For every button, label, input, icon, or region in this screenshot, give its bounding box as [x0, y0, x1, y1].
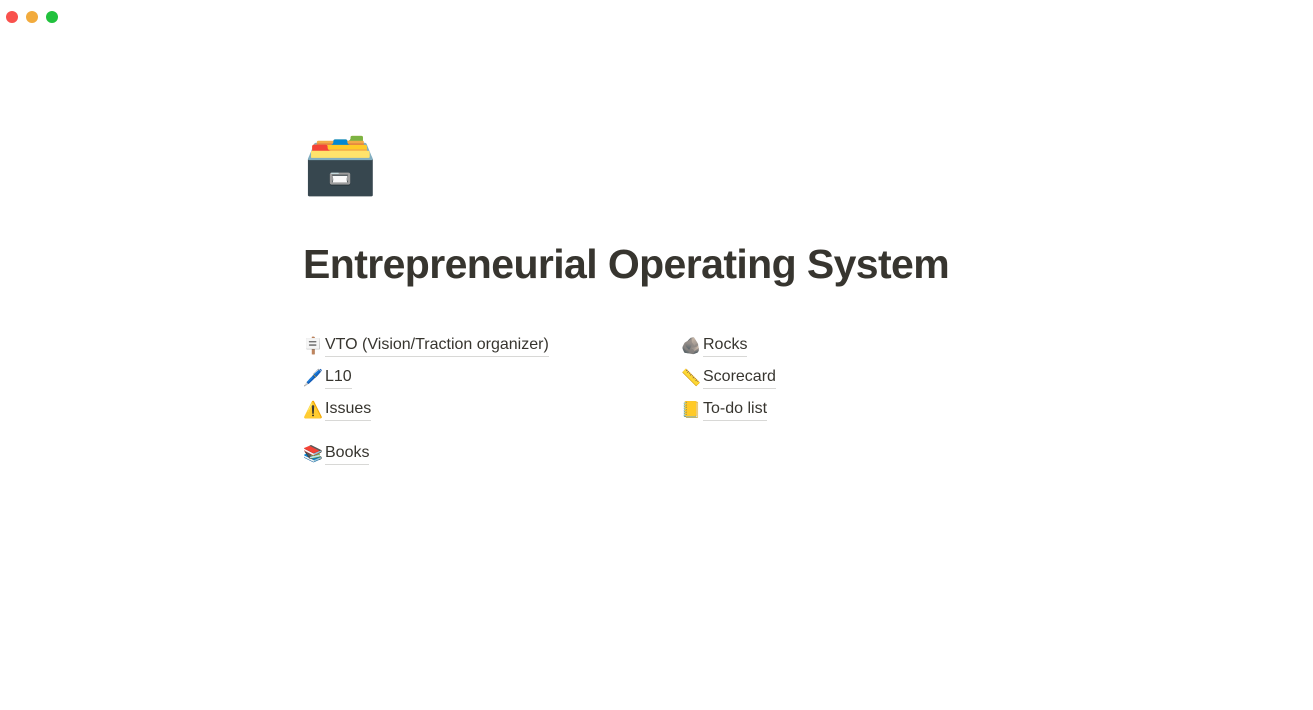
rock-icon: 🪨: [681, 338, 703, 354]
traffic-light-group: [6, 11, 58, 23]
empty-line: [303, 426, 681, 438]
books-icon: 📚: [303, 446, 325, 462]
ledger-notebook-icon: 📒: [681, 402, 703, 418]
link-row-rocks[interactable]: 🪨 Rocks: [681, 330, 1081, 362]
straight-ruler-icon: 📏: [681, 370, 703, 386]
right-link-column: 🪨 Rocks 📏 Scorecard 📒 To-do list: [681, 330, 1081, 426]
link-row-books[interactable]: 📚 Books: [303, 438, 681, 470]
page-content: 🗃️ Entrepreneurial Operating System 🪧 VT…: [303, 134, 1243, 470]
link-row-scorecard[interactable]: 📏 Scorecard: [681, 362, 1081, 394]
close-window-button[interactable]: [6, 11, 18, 23]
link-label-books[interactable]: Books: [325, 443, 369, 465]
maximize-window-button[interactable]: [46, 11, 58, 23]
link-label-scorecard[interactable]: Scorecard: [703, 367, 776, 389]
link-label-issues[interactable]: Issues: [325, 399, 371, 421]
page-title: Entrepreneurial Operating System: [303, 240, 1243, 289]
link-row-issues[interactable]: ⚠️ Issues: [303, 394, 681, 426]
link-row-vto[interactable]: 🪧 VTO (Vision/Traction organizer): [303, 330, 681, 362]
pen-icon: 🖊️: [303, 370, 325, 386]
page-canvas: 🗃️ Entrepreneurial Operating System 🪧 VT…: [0, 34, 1313, 710]
placard-icon: 🪧: [303, 338, 325, 354]
window-title-bar: [0, 0, 1313, 34]
left-link-column: 🪧 VTO (Vision/Traction organizer) 🖊️ L10…: [303, 330, 681, 470]
card-file-box-icon[interactable]: 🗃️: [303, 134, 1243, 198]
minimize-window-button[interactable]: [26, 11, 38, 23]
link-label-vto[interactable]: VTO (Vision/Traction organizer): [325, 335, 549, 357]
link-label-todo-list[interactable]: To-do list: [703, 399, 767, 421]
link-columns: 🪧 VTO (Vision/Traction organizer) 🖊️ L10…: [303, 330, 1243, 470]
link-row-l10[interactable]: 🖊️ L10: [303, 362, 681, 394]
link-label-l10[interactable]: L10: [325, 367, 352, 389]
link-label-rocks[interactable]: Rocks: [703, 335, 747, 357]
link-row-todo-list[interactable]: 📒 To-do list: [681, 394, 1081, 426]
warning-icon: ⚠️: [303, 402, 325, 418]
